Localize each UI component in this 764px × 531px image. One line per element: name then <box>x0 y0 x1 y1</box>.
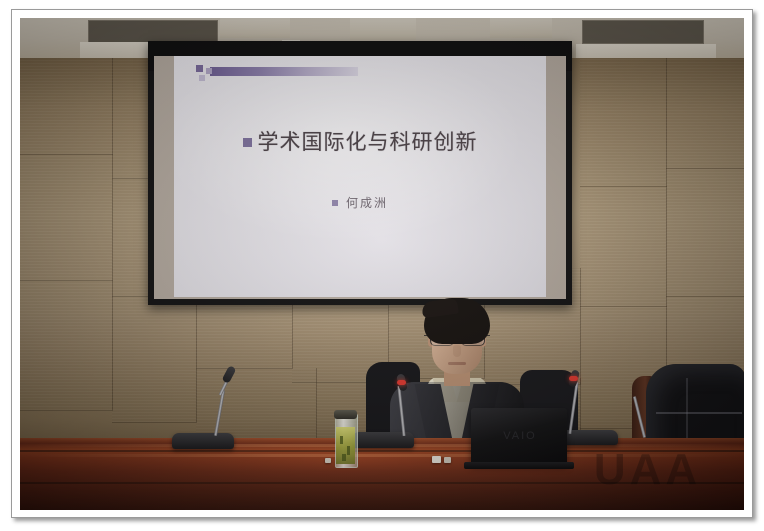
photograph: 学术国际化与科研创新 何成洲 <box>20 18 744 510</box>
slide-subtitle: 何成洲 <box>346 196 388 210</box>
slide-header-square-icon <box>199 75 205 81</box>
ceiling-panel <box>490 18 552 38</box>
tea-leaf <box>342 454 346 461</box>
ceiling-panel <box>350 18 416 40</box>
projector-glow <box>174 56 546 297</box>
microphone-led-icon <box>569 376 578 381</box>
slide-title-row: 学术国际化与科研创新 <box>174 126 546 156</box>
tea-cup-lid <box>334 410 357 419</box>
laptop-brand-logo: VAIO <box>498 430 542 441</box>
tea-leaf <box>340 436 343 444</box>
square-bullet-icon <box>332 200 338 206</box>
desk-object <box>444 457 451 463</box>
microphone-led-icon <box>397 380 406 385</box>
desk-object <box>432 456 441 463</box>
slide-header-accent-bar <box>210 67 358 76</box>
laptop-base <box>464 462 574 469</box>
ceiling-panel <box>220 18 290 38</box>
square-bullet-icon <box>243 138 252 147</box>
slide-header-square-icon <box>196 65 203 72</box>
microphone-base <box>172 433 234 449</box>
tea-leaf <box>347 446 350 455</box>
slide-title: 学术国际化与科研创新 <box>258 130 478 154</box>
ceiling-vent-grille-icon <box>582 20 704 44</box>
slide-header-square-icon <box>206 68 212 74</box>
photo-mat: 学术国际化与科研创新 何成洲 <box>0 0 764 531</box>
watermark: UAA <box>560 446 735 494</box>
slide-subtitle-row: 何成洲 <box>174 194 546 211</box>
presentation-slide: 学术国际化与科研创新 何成洲 <box>174 56 546 297</box>
desk-object <box>325 458 331 463</box>
chair-seam <box>656 412 742 414</box>
